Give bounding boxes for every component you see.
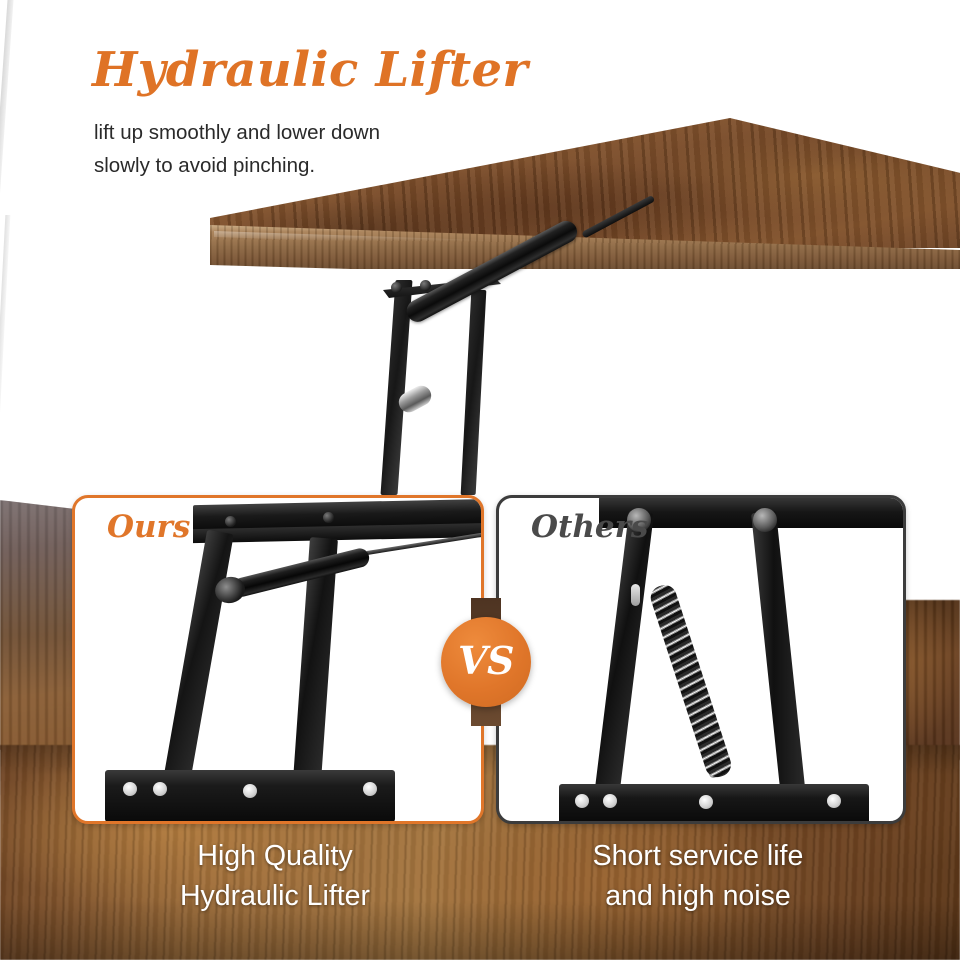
others-screw-hole-icon bbox=[603, 794, 617, 808]
bracket-bolt-icon bbox=[420, 280, 431, 291]
ours-scissor-arm-left bbox=[162, 530, 234, 791]
others-scissor-arm-right bbox=[751, 511, 805, 792]
vs-badge-label: VS bbox=[458, 642, 514, 680]
others-coil-spring bbox=[648, 582, 735, 780]
comparison-card-others[interactable]: Others bbox=[496, 495, 906, 824]
subtitle-line-1: lift up smoothly and lower down bbox=[94, 116, 514, 149]
ours-caption-line-2: Hydraulic Lifter bbox=[72, 876, 478, 916]
table-leg-right-highlight bbox=[0, 215, 10, 420]
ours-label: Ours bbox=[107, 512, 190, 543]
vs-badge: VS bbox=[441, 617, 531, 707]
subtitle-line-2: slowly to avoid pinching. bbox=[94, 149, 514, 182]
others-rivet-icon bbox=[753, 508, 777, 532]
others-caption-line-1: Short service life bbox=[496, 836, 900, 876]
ours-screw-hole-icon bbox=[123, 782, 137, 796]
table-leg-right bbox=[461, 290, 487, 495]
infographic-canvas: Hydraulic Lifter lift up smoothly and lo… bbox=[0, 0, 960, 960]
ours-hydraulic-piston bbox=[231, 546, 371, 598]
page-subtitle: lift up smoothly and lower down slowly t… bbox=[94, 116, 514, 182]
ours-bolt-icon bbox=[225, 516, 236, 527]
ours-mechanism-illustration bbox=[75, 498, 481, 821]
ours-caption-line-1: High Quality bbox=[72, 836, 478, 876]
ours-bolt-icon bbox=[323, 512, 334, 523]
others-label: Others bbox=[531, 512, 648, 543]
others-mechanism-illustration bbox=[499, 498, 903, 821]
others-scissor-arm-left bbox=[595, 510, 654, 791]
ours-caption: High Quality Hydraulic Lifter bbox=[72, 836, 478, 916]
ours-screw-hole-icon bbox=[363, 782, 377, 796]
others-screw-hole-icon bbox=[699, 795, 713, 809]
ours-screw-hole-icon bbox=[243, 784, 257, 798]
ours-screw-hole-icon bbox=[153, 782, 167, 796]
bracket-bolt-icon bbox=[391, 282, 402, 293]
ours-base-plate bbox=[105, 770, 395, 822]
others-caption-line-2: and high noise bbox=[496, 876, 900, 916]
table-leg-left-highlight bbox=[0, 0, 14, 215]
others-base-plate bbox=[559, 784, 869, 824]
others-slot-icon bbox=[631, 584, 640, 606]
page-title: Hydraulic Lifter bbox=[92, 46, 528, 94]
others-screw-hole-icon bbox=[575, 794, 589, 808]
comparison-card-ours[interactable]: Ours bbox=[72, 495, 484, 824]
others-screw-hole-icon bbox=[827, 794, 841, 808]
others-caption: Short service life and high noise bbox=[496, 836, 900, 916]
